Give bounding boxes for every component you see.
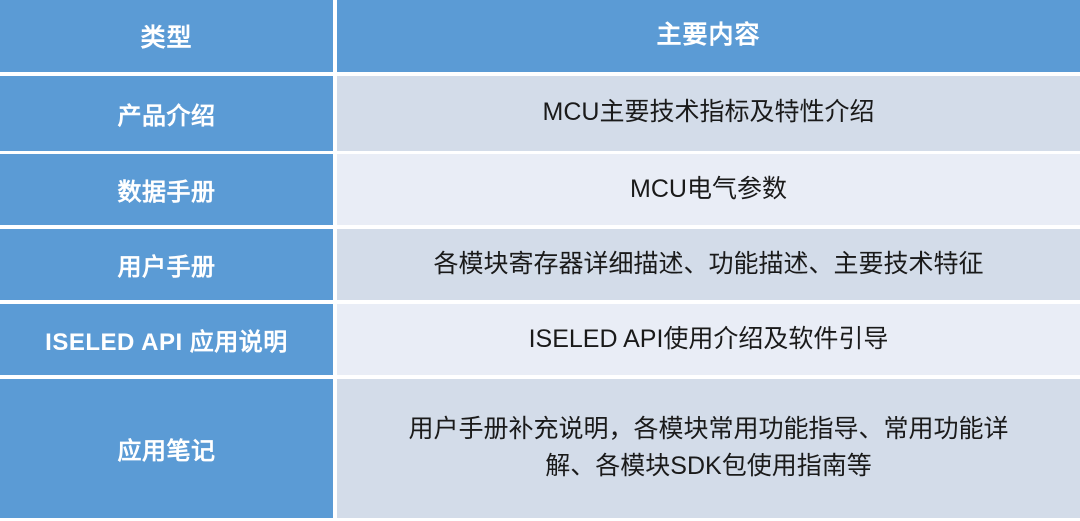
row-content-line: MCU电气参数 (351, 171, 1066, 209)
row-type-label: 产品介绍 (0, 76, 333, 151)
row-content-line: MCU主要技术指标及特性介绍 (351, 94, 1066, 132)
row-content-line: ISELED API使用介绍及软件引导 (351, 321, 1066, 359)
column-header-content: 主要内容 (337, 0, 1080, 72)
table-row: ISELED API 应用说明 ISELED API使用介绍及软件引导 (0, 304, 1080, 379)
table-row: 产品介绍 MCU主要技术指标及特性介绍 (0, 76, 1080, 155)
row-type-label: 数据手册 (0, 154, 333, 225)
row-content-text: 用户手册补充说明，各模块常用功能指导、常用功能详 解、各模块SDK包使用指南等 (337, 379, 1080, 518)
column-header-type: 类型 (0, 0, 333, 72)
row-content-line: 用户手册补充说明，各模块常用功能指导、常用功能详 解、各模块SDK包使用指南等 (351, 411, 1066, 486)
table-row: 应用笔记 用户手册补充说明，各模块常用功能指导、常用功能详 解、各模块SDK包使… (0, 379, 1080, 521)
row-content-text: ISELED API使用介绍及软件引导 (337, 304, 1080, 375)
row-type-label: 应用笔记 (0, 379, 333, 518)
table-row: 用户手册 各模块寄存器详细描述、功能描述、主要技术特征 (0, 229, 1080, 304)
row-content-line: 各模块寄存器详细描述、功能描述、主要技术特征 (351, 246, 1066, 284)
row-type-label: ISELED API 应用说明 (0, 304, 333, 375)
row-content-text: MCU电气参数 (337, 154, 1080, 225)
row-content-text: 各模块寄存器详细描述、功能描述、主要技术特征 (337, 229, 1080, 300)
row-content-text: MCU主要技术指标及特性介绍 (337, 76, 1080, 151)
documentation-type-table: 类型 主要内容 产品介绍 MCU主要技术指标及特性介绍 数据手册 MCU电气参数… (0, 0, 1080, 521)
table-header-row: 类型 主要内容 (0, 0, 1080, 76)
row-type-label: 用户手册 (0, 229, 333, 300)
table-row: 数据手册 MCU电气参数 (0, 154, 1080, 229)
